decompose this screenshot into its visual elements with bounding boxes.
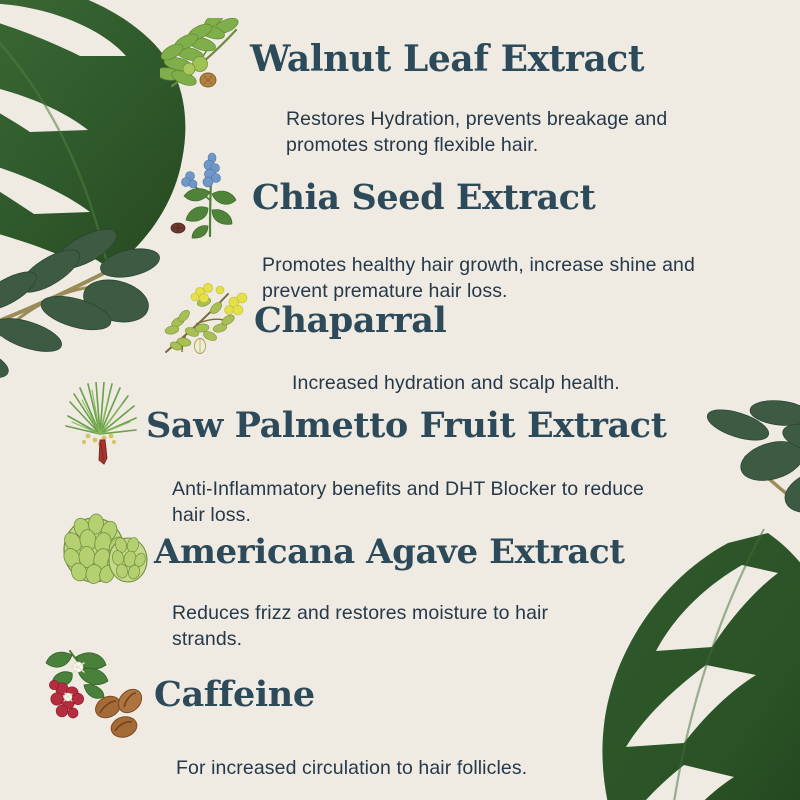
ingredient-title: Walnut Leaf Extract	[250, 41, 644, 79]
ingredient-list: Walnut Leaf Extract Restores Hydration, …	[0, 0, 800, 800]
ingredient-item-walnut: Walnut Leaf Extract Restores Hydration, …	[160, 18, 706, 158]
ingredient-heading-row: Chaparral	[158, 280, 752, 363]
ingredient-item-saw-palmetto: Saw Palmetto Fruit Extract Anti-Inflamma…	[62, 382, 672, 528]
ingredient-item-caffeine: Caffeine For increased circulation to ha…	[44, 645, 616, 782]
ingredient-title: Chaparral	[254, 303, 446, 340]
ingredient-heading-row: Caffeine	[44, 645, 616, 746]
chaparral-flower-icon	[158, 280, 248, 363]
ingredient-title: Caffeine	[154, 677, 315, 714]
walnut-leaf-sprig-icon	[160, 18, 244, 101]
chia-plant-icon	[170, 152, 246, 245]
agave-cone-icon	[60, 512, 148, 593]
ingredient-item-agave: Americana Agave Extract Reduces frizz an…	[60, 512, 625, 652]
ingredient-description: For increased circulation to hair follic…	[176, 756, 616, 782]
ingredient-heading-row: Saw Palmetto Fruit Extract	[62, 382, 672, 471]
saw-palmetto-palm-icon	[62, 382, 140, 471]
ingredient-heading-row: Walnut Leaf Extract	[160, 18, 706, 101]
ingredient-title: Saw Palmetto Fruit Extract	[146, 408, 666, 445]
ingredient-description: Restores Hydration, prevents breakage an…	[286, 107, 706, 158]
ingredient-heading-row: Americana Agave Extract	[60, 512, 625, 593]
ingredient-title: Chia Seed Extract	[252, 180, 595, 217]
ingredient-item-chaparral: Chaparral Increased hydration and scalp …	[158, 280, 752, 397]
ingredient-title: Americana Agave Extract	[154, 535, 625, 571]
coffee-berry-bean-icon	[44, 645, 148, 746]
ingredient-heading-row: Chia Seed Extract	[170, 152, 722, 245]
ingredient-infographic: Walnut Leaf Extract Restores Hydration, …	[0, 0, 800, 800]
